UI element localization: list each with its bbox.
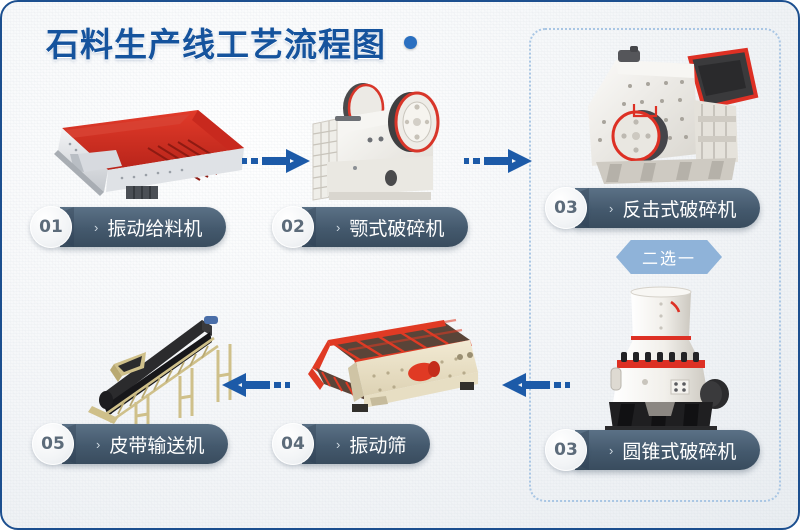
step-number-03-impact: 03 bbox=[545, 187, 587, 229]
machine-image-belt-conveyor bbox=[84, 302, 274, 434]
arrow-feeder-to-jaw bbox=[242, 148, 312, 174]
machine-image-impact-crusher bbox=[570, 44, 760, 194]
step-number-05: 05 bbox=[32, 423, 74, 465]
step-label-03-cone: 圆锥式破碎机 bbox=[622, 437, 736, 464]
step-label-01: 振动给料机 bbox=[107, 214, 202, 241]
page-title: 石料生产线工艺流程图 bbox=[46, 18, 386, 66]
chevron-right-icon: › bbox=[94, 221, 98, 234]
step-label-05: 皮带输送机 bbox=[109, 431, 204, 458]
machine-image-vibrating-screen bbox=[294, 314, 494, 429]
choose-one-label: 二选一 bbox=[642, 245, 696, 269]
machine-image-cone-crusher bbox=[587, 284, 737, 439]
chevron-right-icon: › bbox=[609, 202, 613, 215]
arrow-screen-to-conveyor bbox=[220, 372, 290, 398]
step-number-01: 01 bbox=[30, 206, 72, 248]
machine-image-jaw-crusher bbox=[307, 72, 472, 207]
step-pill-03-impact[interactable]: › 反击式破碎机 bbox=[575, 188, 760, 228]
machine-image-vibrating-feeder bbox=[30, 92, 260, 202]
step-label-02: 颚式破碎机 bbox=[349, 214, 444, 241]
caption-step-01[interactable]: 01 › 振动给料机 bbox=[30, 207, 226, 247]
caption-step-03-impact[interactable]: 03 › 反击式破碎机 bbox=[545, 188, 760, 228]
chevron-right-icon: › bbox=[336, 221, 340, 234]
caption-step-02[interactable]: 02 › 颚式破碎机 bbox=[272, 207, 468, 247]
caption-step-03-cone[interactable]: 03 › 圆锥式破碎机 bbox=[545, 430, 760, 470]
step-pill-01[interactable]: › 振动给料机 bbox=[60, 207, 226, 247]
step-number-03-cone: 03 bbox=[545, 429, 587, 471]
step-label-04: 振动筛 bbox=[349, 431, 406, 458]
step-pill-02[interactable]: › 颚式破碎机 bbox=[302, 207, 468, 247]
step-pill-04[interactable]: › 振动筛 bbox=[302, 424, 430, 464]
chevron-right-icon: › bbox=[96, 438, 100, 451]
caption-step-04[interactable]: 04 › 振动筛 bbox=[272, 424, 430, 464]
step-number-04: 04 bbox=[272, 423, 314, 465]
choose-one-badge: 二选一 bbox=[616, 240, 722, 274]
step-label-03-impact: 反击式破碎机 bbox=[622, 195, 736, 222]
title-dot-icon bbox=[404, 36, 417, 49]
step-pill-05[interactable]: › 皮带输送机 bbox=[62, 424, 228, 464]
chevron-right-icon: › bbox=[336, 438, 340, 451]
caption-step-05[interactable]: 05 › 皮带输送机 bbox=[32, 424, 228, 464]
page-title-block: 石料生产线工艺流程图 bbox=[46, 18, 417, 66]
chevron-right-icon: › bbox=[609, 444, 613, 457]
arrow-jaw-to-crusher bbox=[464, 148, 534, 174]
step-pill-03-cone[interactable]: › 圆锥式破碎机 bbox=[575, 430, 760, 470]
arrow-crusher-to-screen bbox=[500, 372, 570, 398]
step-number-02: 02 bbox=[272, 206, 314, 248]
flow-diagram-page: 石料生产线工艺流程图 bbox=[0, 0, 800, 530]
